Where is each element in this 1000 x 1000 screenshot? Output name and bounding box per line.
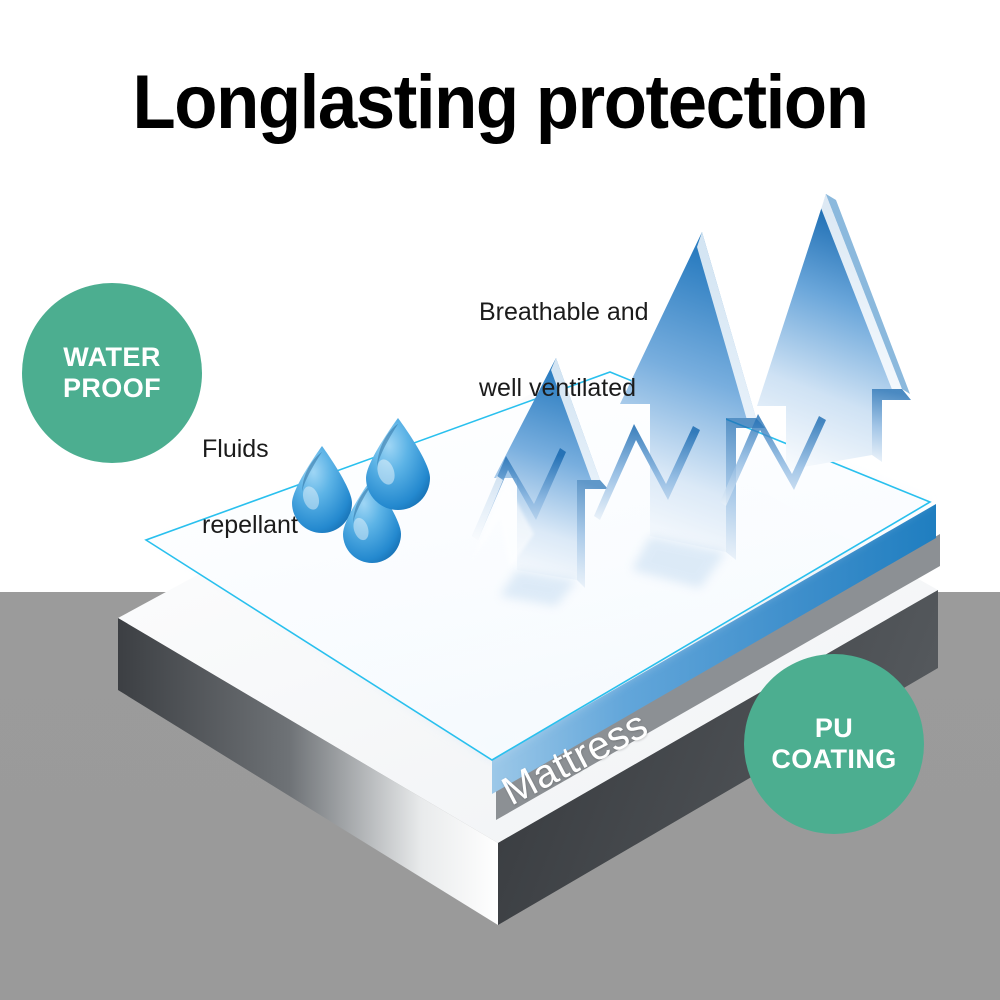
infographic-canvas: Longlasting protection WATER PROOF PU CO…: [0, 0, 1000, 1000]
callout-fluids-line2: repellant: [202, 506, 298, 544]
product-illustration: [0, 0, 1000, 1000]
page-title: Longlasting protection: [35, 62, 965, 144]
badge-waterproof[interactable]: WATER PROOF: [22, 283, 202, 463]
callout-breathable-line1: Breathable and: [479, 293, 649, 331]
badge-pu-coating-line2: COATING: [771, 744, 896, 775]
callout-breathable-line2: well ventilated: [479, 369, 649, 407]
callout-fluids-repellant: Fluids repellant: [202, 392, 298, 582]
arrow-4: [757, 194, 911, 470]
callout-fluids-line1: Fluids: [202, 430, 298, 468]
badge-pu-coating-line1: PU: [771, 713, 896, 744]
badge-pu-coating[interactable]: PU COATING: [744, 654, 924, 834]
badge-waterproof-line2: PROOF: [63, 373, 161, 404]
callout-breathable: Breathable and well ventilated: [479, 255, 649, 445]
badge-waterproof-line1: WATER: [63, 342, 161, 373]
